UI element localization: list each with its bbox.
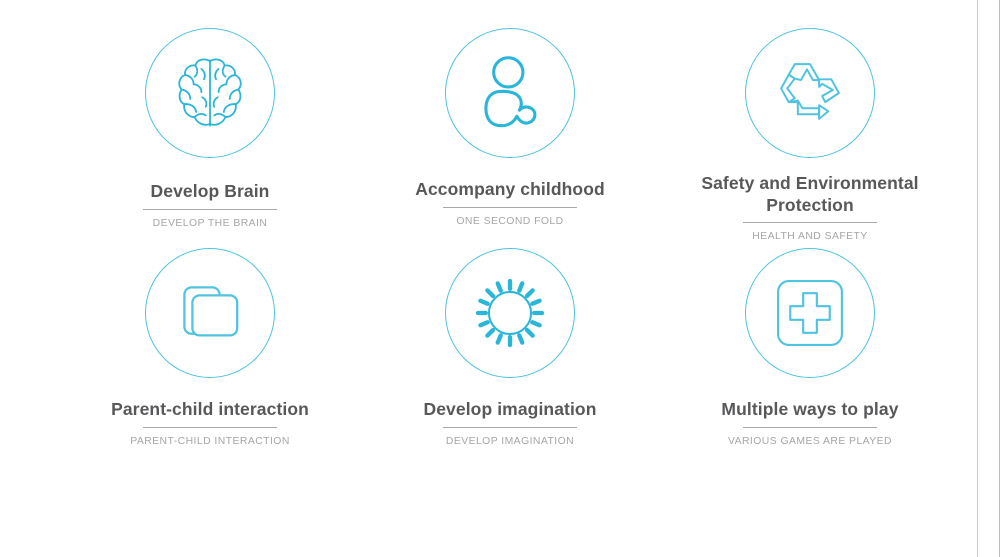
- feature-card-develop-imagination[interactable]: Develop imagination DEVELOP IMAGINATION: [360, 248, 660, 468]
- feature-subtitle: DEVELOP IMAGINATION: [446, 436, 574, 448]
- feature-subtitle: VARIOUS GAMES ARE PLAYED: [728, 436, 892, 448]
- icon-circle: [745, 248, 875, 378]
- feature-title: Multiple ways to play: [721, 398, 898, 420]
- icon-circle: [445, 28, 575, 158]
- feature-title: Safety and Environmental Protection: [683, 172, 938, 217]
- page-right-rule: [977, 0, 978, 557]
- feature-highlights-page: Develop Brain DEVELOP THE BRAIN Accompan…: [0, 0, 1000, 557]
- feature-title: Accompany childhood: [415, 178, 605, 200]
- icon-circle: [445, 248, 575, 378]
- baby-icon: [467, 50, 553, 136]
- feature-subtitle: DEVELOP THE BRAIN: [153, 218, 268, 230]
- icon-circle: [145, 248, 275, 378]
- feature-card-accompany-childhood[interactable]: Accompany childhood ONE SECOND FOLD: [360, 28, 660, 248]
- feature-card-parent-child-interaction[interactable]: Parent-child interaction PARENT-CHILD IN…: [60, 248, 360, 468]
- plus-square-icon: [772, 275, 848, 351]
- feature-title: Parent-child interaction: [111, 398, 309, 420]
- feature-divider: [143, 427, 277, 428]
- brain-icon: [167, 50, 253, 136]
- feature-subtitle: HEALTH AND SAFETY: [752, 231, 867, 243]
- feature-title: Develop imagination: [423, 398, 596, 420]
- recycle-icon: [772, 55, 848, 131]
- feature-divider: [143, 209, 277, 210]
- feature-card-safety-environmental-protection[interactable]: Safety and Environmental Protection HEAL…: [660, 28, 960, 248]
- feature-divider: [443, 207, 577, 208]
- feature-divider: [443, 427, 577, 428]
- feature-subtitle: PARENT-CHILD INTERACTION: [130, 436, 290, 448]
- feature-divider: [743, 222, 877, 223]
- feature-title: Develop Brain: [151, 180, 270, 202]
- feature-subtitle: ONE SECOND FOLD: [456, 216, 563, 228]
- feature-grid: Develop Brain DEVELOP THE BRAIN Accompan…: [60, 28, 960, 468]
- feature-divider: [743, 427, 877, 428]
- icon-circle: [145, 28, 275, 158]
- sun-icon: [471, 274, 549, 352]
- feature-card-multiple-ways-to-play[interactable]: Multiple ways to play VARIOUS GAMES ARE …: [660, 248, 960, 468]
- folder-icon: [170, 273, 250, 353]
- feature-card-develop-brain[interactable]: Develop Brain DEVELOP THE BRAIN: [60, 28, 360, 248]
- icon-circle: [745, 28, 875, 158]
